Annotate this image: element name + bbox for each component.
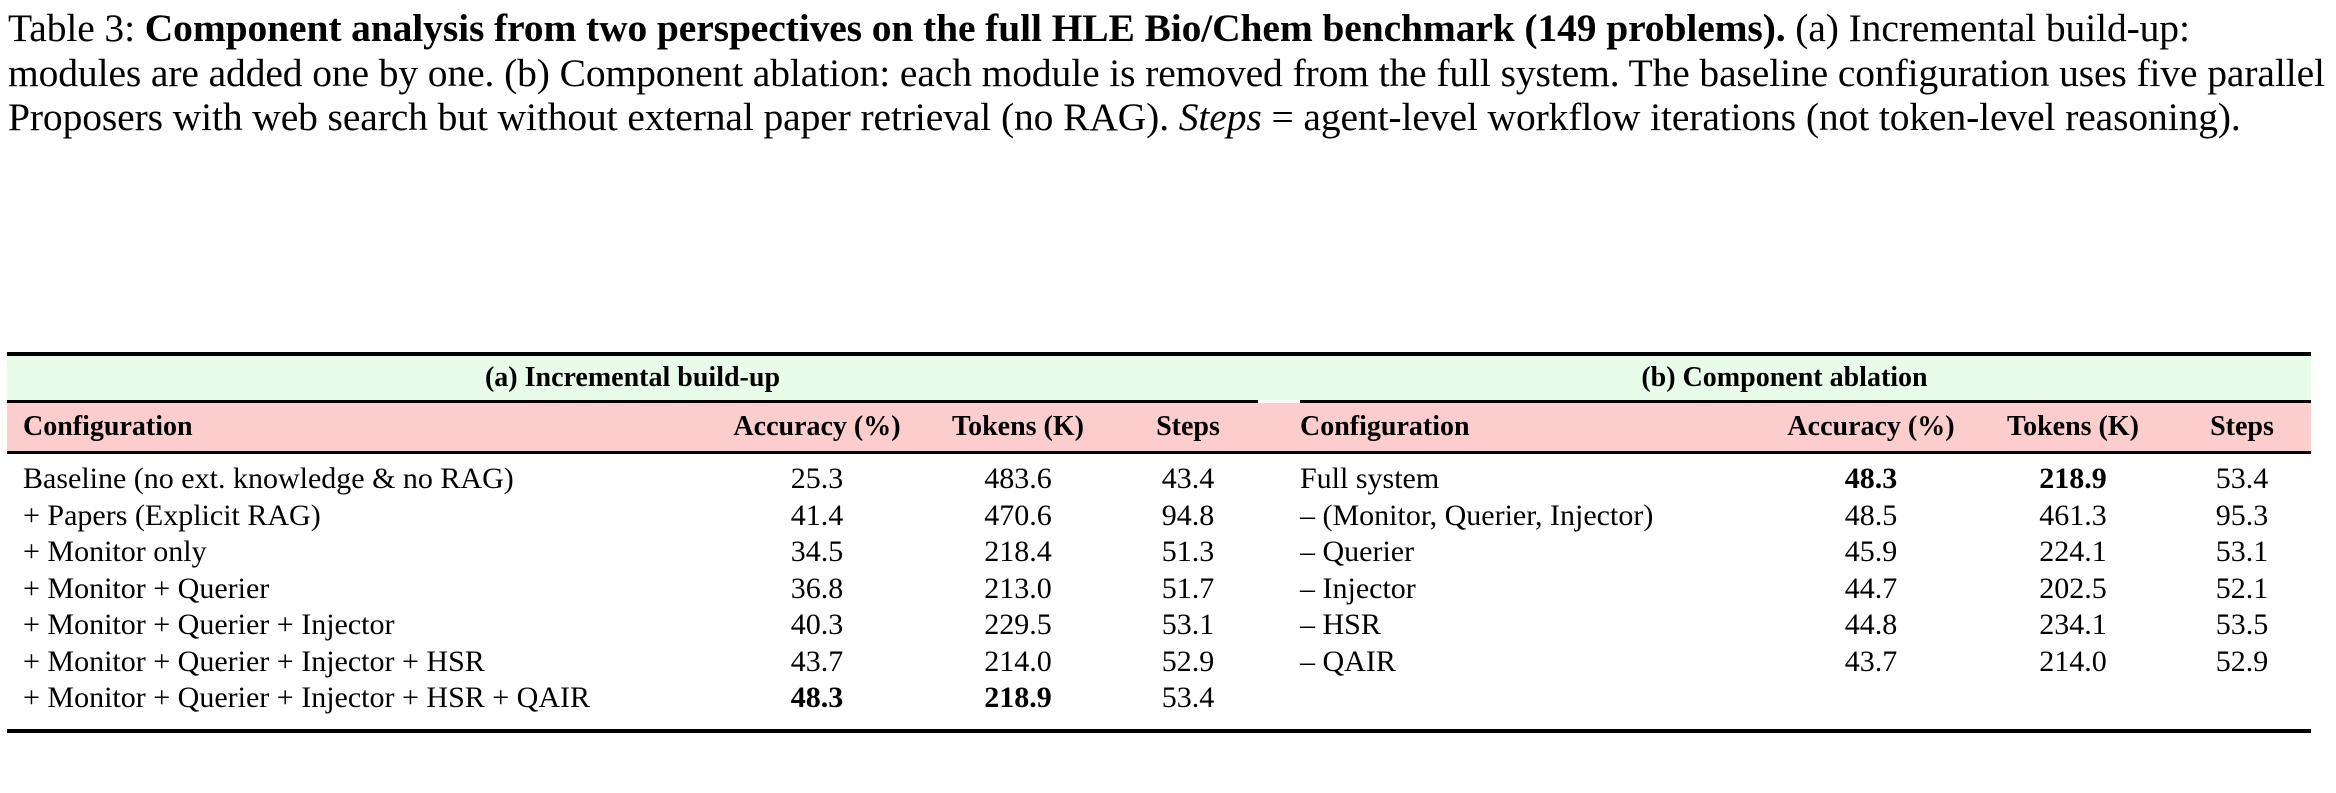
table-row: Full system48.3218.953.4 <box>1258 461 2311 498</box>
cell-configuration: + Monitor only <box>7 534 716 571</box>
header-accuracy-right: Accuracy (%) <box>1769 403 1973 451</box>
cell-configuration: + Monitor + Querier + Injector + HSR <box>7 644 716 681</box>
header-tokens-right: Tokens (K) <box>1973 403 2173 451</box>
group-header-incremental-build-up: (a) Incremental build-up <box>7 356 1258 400</box>
cell-tokens: 218.9 <box>918 680 1118 717</box>
cell-accuracy: 45.9 <box>1769 534 1973 571</box>
table-row: + Monitor + Querier + Injector40.3229.55… <box>7 607 1258 644</box>
header-configuration-left: Configuration <box>7 403 716 451</box>
cell-configuration: – QAIR <box>1258 644 1769 681</box>
cell-accuracy: 44.7 <box>1769 571 1973 608</box>
cell-accuracy: 43.7 <box>1769 644 1973 681</box>
cell-tokens: 214.0 <box>1973 644 2173 681</box>
cell-configuration: + Monitor + Querier <box>7 571 716 608</box>
cell-steps: 51.3 <box>1118 534 1258 571</box>
cell-accuracy: 43.7 <box>716 644 918 681</box>
cell-steps: 53.4 <box>1118 680 1258 717</box>
cell-steps: 52.9 <box>2173 644 2311 681</box>
cell-accuracy: 36.8 <box>716 571 918 608</box>
header-steps-left: Steps <box>1118 403 1258 451</box>
caption-bold-title: Component analysis from two perspectives… <box>145 6 1786 50</box>
caption-label: Table 3: <box>8 6 135 50</box>
table-row: + Papers (Explicit RAG)41.4470.694.8 <box>7 498 1258 535</box>
cell-accuracy: 40.3 <box>716 607 918 644</box>
table-row: + Monitor + Querier + Injector + HSR + Q… <box>7 680 1258 717</box>
caption-body-b: = agent-level workflow iterations (not t… <box>1262 95 2241 139</box>
table-row: + Monitor + Querier36.8213.051.7 <box>7 571 1258 608</box>
cell-configuration: + Monitor + Querier + Injector + HSR + Q… <box>7 680 716 717</box>
table-row: – (Monitor, Querier, Injector)48.5461.39… <box>1258 498 2311 535</box>
cell-tokens: 470.6 <box>918 498 1118 535</box>
cell-steps: 95.3 <box>2173 498 2311 535</box>
cell-accuracy: 48.5 <box>1769 498 1973 535</box>
cell-tokens: 218.4 <box>918 534 1118 571</box>
table-row: – QAIR43.7214.052.9 <box>1258 644 2311 681</box>
table-row: – Injector44.7202.552.1 <box>1258 571 2311 608</box>
table-row: Baseline (no ext. knowledge & no RAG)25.… <box>7 461 1258 498</box>
cell-configuration: Full system <box>1258 461 1769 498</box>
table-caption: Table 3: Component analysis from two per… <box>8 6 2328 140</box>
header-accuracy-left: Accuracy (%) <box>716 403 918 451</box>
cell-steps: 51.7 <box>1118 571 1258 608</box>
cell-accuracy: 44.8 <box>1769 607 1973 644</box>
cell-configuration: – HSR <box>1258 607 1769 644</box>
cell-steps: 52.9 <box>1118 644 1258 681</box>
group-header-row: (a) Incremental build-up (b) Component a… <box>7 356 2311 400</box>
cell-configuration: Baseline (no ext. knowledge & no RAG) <box>7 461 716 498</box>
cell-tokens: 214.0 <box>918 644 1118 681</box>
cell-tokens: 202.5 <box>1973 571 2173 608</box>
column-header-row: Configuration Accuracy (%) Tokens (K) St… <box>7 403 2311 451</box>
cell-accuracy: 25.3 <box>716 461 918 498</box>
header-steps-right: Steps <box>2173 403 2311 451</box>
body-bottom-spacer <box>7 717 2311 729</box>
cell-steps: 94.8 <box>1118 498 1258 535</box>
cell-tokens: 234.1 <box>1973 607 2173 644</box>
table-bottom-rule <box>7 729 2311 733</box>
group-header-component-ablation: (b) Component ablation <box>1258 356 2311 400</box>
cell-configuration: + Papers (Explicit RAG) <box>7 498 716 535</box>
table-row: + Monitor only34.5218.451.3 <box>7 534 1258 571</box>
cell-steps: 52.1 <box>2173 571 2311 608</box>
subtable-incremental-build-up: Baseline (no ext. knowledge & no RAG)25.… <box>7 454 1258 717</box>
body-top-spacer-right <box>1258 454 2311 461</box>
cell-steps: 53.5 <box>2173 607 2311 644</box>
cell-accuracy: 48.3 <box>716 680 918 717</box>
cell-tokens: 224.1 <box>1973 534 2173 571</box>
table-row: – HSR44.8234.153.5 <box>1258 607 2311 644</box>
cell-accuracy: 34.5 <box>716 534 918 571</box>
header-configuration-right: Configuration <box>1258 403 1769 451</box>
cell-steps: 43.4 <box>1118 461 1258 498</box>
cell-steps: 53.1 <box>1118 607 1258 644</box>
table-3: (a) Incremental build-up (b) Component a… <box>7 352 2311 733</box>
header-tokens-left: Tokens (K) <box>918 403 1118 451</box>
cell-tokens: 213.0 <box>918 571 1118 608</box>
cell-configuration: – (Monitor, Querier, Injector) <box>1258 498 1769 535</box>
cell-tokens: 229.5 <box>918 607 1118 644</box>
table-figure-page: Table 3: Component analysis from two per… <box>0 0 2336 793</box>
cell-configuration: – Querier <box>1258 534 1769 571</box>
cell-configuration: – Injector <box>1258 571 1769 608</box>
cell-accuracy: 48.3 <box>1769 461 1973 498</box>
cell-tokens: 461.3 <box>1973 498 2173 535</box>
cell-steps: 53.1 <box>2173 534 2311 571</box>
cell-tokens: 483.6 <box>918 461 1118 498</box>
caption-italic-steps: Steps <box>1179 95 1262 139</box>
table-body: Baseline (no ext. knowledge & no RAG)25.… <box>7 454 2311 717</box>
table-row: + Monitor + Querier + Injector + HSR43.7… <box>7 644 1258 681</box>
cell-steps: 53.4 <box>2173 461 2311 498</box>
cell-configuration: + Monitor + Querier + Injector <box>7 607 716 644</box>
subtable-component-ablation: Full system48.3218.953.4– (Monitor, Quer… <box>1258 454 2311 717</box>
cell-tokens: 218.9 <box>1973 461 2173 498</box>
body-top-spacer-left <box>7 454 1258 461</box>
table-row: – Querier45.9224.153.1 <box>1258 534 2311 571</box>
cell-accuracy: 41.4 <box>716 498 918 535</box>
